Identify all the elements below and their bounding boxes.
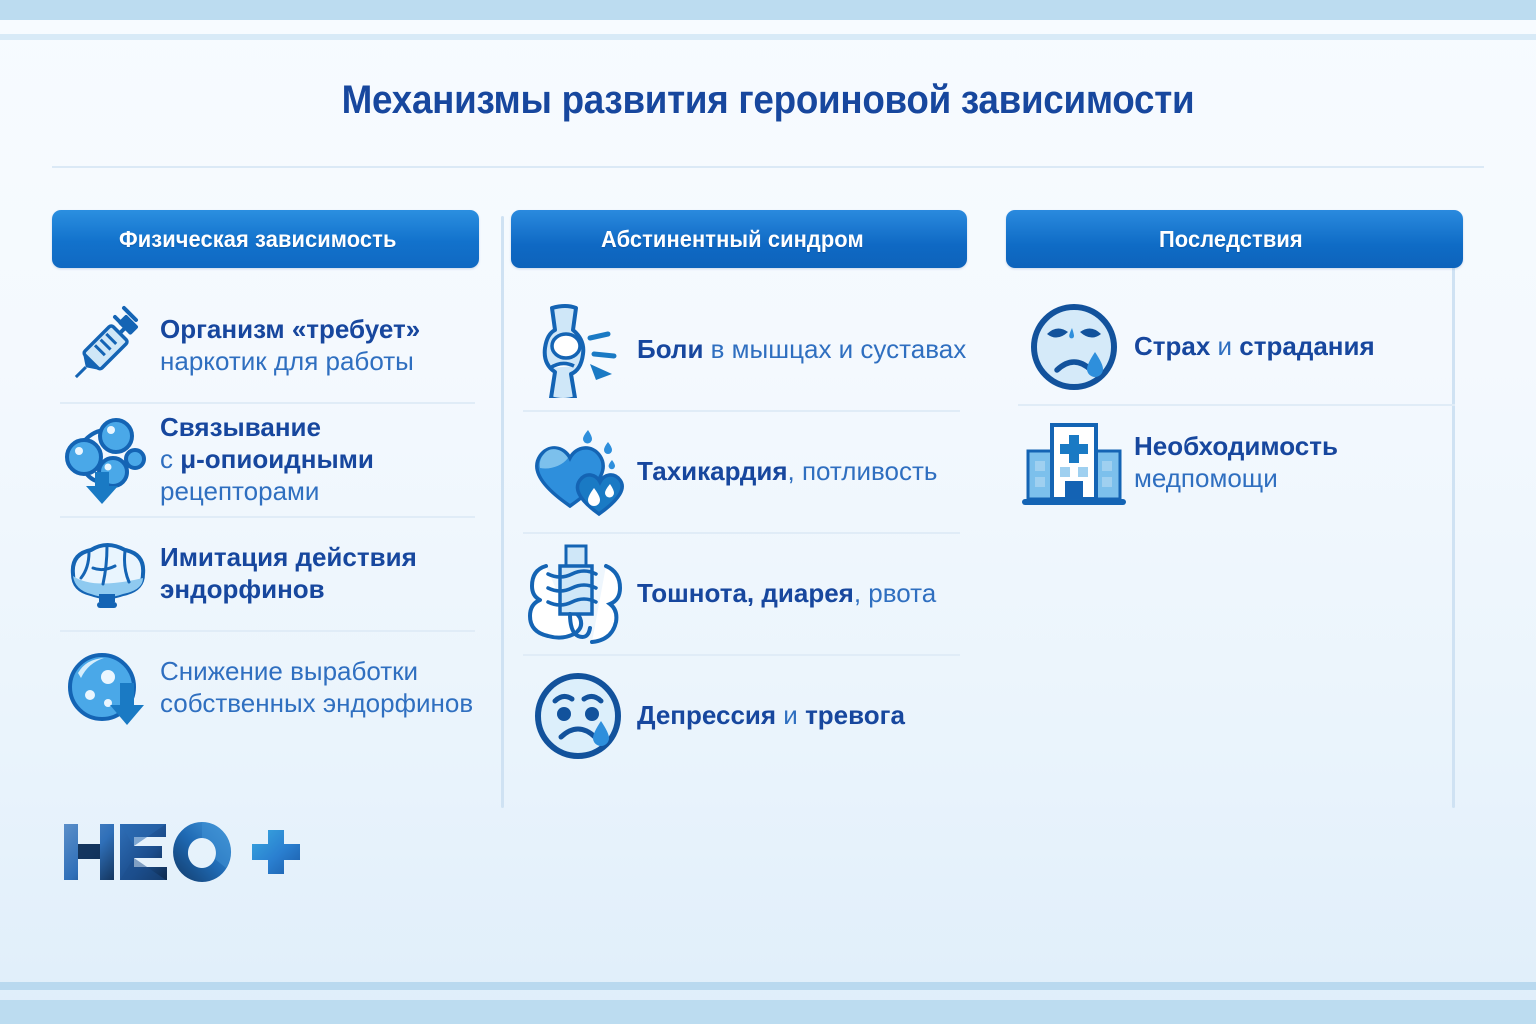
list-item[interactable]: Необходимость медпомощи <box>1006 406 1484 520</box>
column-header-physical: Физическая зависимость <box>52 210 479 268</box>
list-item-text: Страх и страдания <box>1134 331 1375 363</box>
column-withdrawal-items: Боли в мышцах и суставах <box>511 290 985 776</box>
list-item[interactable]: Тахикардия, потливость <box>511 412 985 532</box>
list-item[interactable]: Снижение выработки собственных эндорфино… <box>52 632 489 744</box>
item-conjunction: и <box>776 700 805 730</box>
item-conjunction: и <box>1210 331 1239 361</box>
list-item[interactable]: Связывание с μ-опиоидными рецепторами <box>52 404 489 516</box>
item-subtitle: с μ-опиоидными <box>160 444 374 476</box>
hospital-icon <box>1018 417 1130 509</box>
list-item[interactable]: Боли в мышцах и суставах <box>511 290 985 410</box>
item-title: Организм «требует» <box>160 314 420 346</box>
sad-face-tear-icon <box>523 669 633 763</box>
list-item[interactable]: Тошнота, диарея, рвота <box>511 534 985 654</box>
list-item-text: Связывание с μ-опиоидными рецепторами <box>160 412 374 507</box>
list-item[interactable]: Страх и страдания <box>1006 290 1484 404</box>
item-subtitle: собственных эндорфинов <box>160 688 473 720</box>
list-item-text: Организм «требует» наркотик для работы <box>160 314 420 377</box>
list-item-text: Необходимость медпомощи <box>1134 431 1338 494</box>
brain-icon <box>60 538 154 610</box>
item-title: Снижение выработки <box>160 656 473 688</box>
item-extra: рецепторами <box>160 476 374 508</box>
knee-joint-pain-icon <box>523 302 633 398</box>
column-header-withdrawal-label: Абстинентный синдром <box>601 226 864 253</box>
molecule-receptor-icon <box>60 414 154 506</box>
list-item[interactable]: Имитация действия эндорфинов <box>52 518 489 630</box>
column-physical-items: Организм «требует» наркотик для работы <box>52 290 489 744</box>
list-item-text: Боли в мышцах и суставах <box>637 334 966 366</box>
syringe-icon <box>60 302 154 390</box>
column-withdrawal-syndrome: Абстинентный синдром <box>489 210 985 810</box>
item-title: Связывание <box>160 412 374 444</box>
item-subtitle: наркотик для работы <box>160 346 420 378</box>
item-title: Необходимость <box>1134 431 1338 463</box>
column-header-consequences: Последствия <box>1006 210 1463 268</box>
item-subtitle: медпомощи <box>1134 463 1338 495</box>
bottom-decorative-band <box>0 1000 1536 1024</box>
item-title: Боли <box>637 334 703 364</box>
column-consequences-items: Страх и страдания <box>1006 290 1484 520</box>
item-subtitle: , потливость <box>788 456 938 486</box>
page-title: Механизмы развития героиновой зависимост… <box>61 78 1474 123</box>
top-decorative-band <box>0 0 1536 20</box>
item-title: Имитация действия <box>160 542 417 574</box>
item-subtitle-bold: μ-опиоидными <box>180 444 374 474</box>
list-item-text: Имитация действия эндорфинов <box>160 542 417 605</box>
title-underline <box>52 166 1484 168</box>
list-item-text: Тахикардия, потливость <box>637 456 937 488</box>
columns-container: Физическая зависимость <box>52 210 1484 810</box>
item-subtitle: страдания <box>1239 331 1374 361</box>
list-item-text: Снижение выработки собственных эндорфино… <box>160 656 473 719</box>
item-subtitle-prefix: с <box>160 444 180 474</box>
top-rule <box>0 34 1536 40</box>
list-item-text: Депрессия и тревога <box>637 700 905 732</box>
list-item[interactable]: Организм «требует» наркотик для работы <box>52 290 489 402</box>
item-subtitle: тревога <box>805 700 905 730</box>
column-header-consequences-label: Последствия <box>1159 226 1303 253</box>
crying-face-icon <box>1018 300 1130 394</box>
item-subtitle: эндорфинов <box>160 574 417 606</box>
cell-decrease-icon <box>60 645 154 731</box>
heart-sweat-icon <box>523 426 633 518</box>
column-header-physical-label: Физическая зависимость <box>119 226 396 253</box>
column-header-withdrawal: Абстинентный синдром <box>511 210 967 268</box>
list-item-text: Тошнота, диарея, рвота <box>637 578 936 610</box>
item-title: Тахикардия <box>637 456 788 486</box>
item-title: Страх <box>1134 331 1210 361</box>
item-title: Депрессия <box>637 700 776 730</box>
list-item[interactable]: Депрессия и тревога <box>511 656 985 776</box>
column-consequences: Последствия Стр <box>985 210 1484 810</box>
column-physical-dependence: Физическая зависимость <box>52 210 489 810</box>
item-subtitle: , рвота <box>854 578 936 608</box>
item-title: Тошнота, диарея <box>637 578 854 608</box>
logo-neo-plus[interactable] <box>62 818 302 886</box>
bottom-rule <box>0 982 1536 990</box>
intestines-icon <box>523 544 633 644</box>
item-subtitle: в мышцах и суставах <box>703 334 966 364</box>
